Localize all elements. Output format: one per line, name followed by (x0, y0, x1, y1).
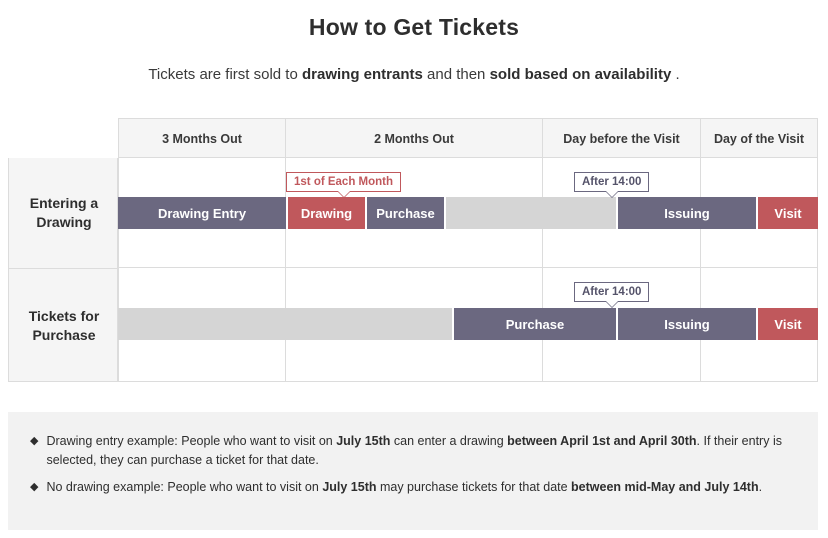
footnote-drawing-entry-example-text: Drawing entry example: People who want t… (46, 432, 802, 471)
column-header-day-before-visit: Day before the Visit (543, 119, 701, 158)
bar-visit-row1: Visit (756, 197, 818, 229)
callout-after-1400-row2: After 14:00 (574, 282, 649, 302)
bar-availability-gap-row1 (444, 197, 616, 229)
page-title: How to Get Tickets (0, 14, 828, 41)
bar-purchase-row2: Purchase (452, 308, 616, 340)
column-header-day-of-visit: Day of the Visit (701, 119, 818, 158)
bar-purchase-row1: Purchase (365, 197, 444, 229)
row-label-entering-a-drawing: Entering aDrawing (9, 158, 119, 268)
footnote-no-drawing-example: ◆ No drawing example: People who want to… (30, 478, 802, 497)
footnote-no-drawing-example-text: No drawing example: People who want to v… (46, 478, 762, 497)
column-header-2-months-out: 2 Months Out (286, 119, 543, 158)
callout-after-1400-row1: After 14:00 (574, 172, 649, 192)
ticket-timeline-table: 3 Months Out 2 Months Out Day before the… (8, 118, 818, 382)
bar-issuing-row2: Issuing (616, 308, 756, 340)
table-body: Entering aDrawing Tickets forPurchase 1s… (8, 158, 818, 382)
bar-drawing-entry: Drawing Entry (118, 197, 286, 229)
column-header-3-months-out: 3 Months Out (118, 119, 286, 158)
bar-availability-gap-row2 (118, 308, 452, 340)
row-label-column: Entering aDrawing Tickets forPurchase (8, 158, 118, 382)
diamond-bullet-icon: ◆ (30, 432, 38, 471)
row-label-tickets-for-purchase-text: Tickets forPurchase (29, 307, 100, 345)
table-header-row: 3 Months Out 2 Months Out Day before the… (118, 118, 818, 158)
diamond-bullet-icon: ◆ (30, 478, 38, 497)
page-subtitle: Tickets are first sold to drawing entran… (0, 66, 828, 83)
row-label-tickets-for-purchase: Tickets forPurchase (9, 268, 119, 382)
footnote-drawing-entry-example: ◆ Drawing entry example: People who want… (30, 432, 802, 471)
footnotes-panel: ◆ Drawing entry example: People who want… (8, 412, 818, 530)
bar-issuing-row1: Issuing (616, 197, 756, 229)
row-label-entering-a-drawing-text: Entering aDrawing (30, 194, 98, 232)
ticket-info-infographic: How to Get Tickets Tickets are first sol… (0, 0, 828, 538)
bar-visit-row2: Visit (756, 308, 818, 340)
bar-drawing: Drawing (286, 197, 365, 229)
callout-1st-of-each-month: 1st of Each Month (286, 172, 401, 192)
